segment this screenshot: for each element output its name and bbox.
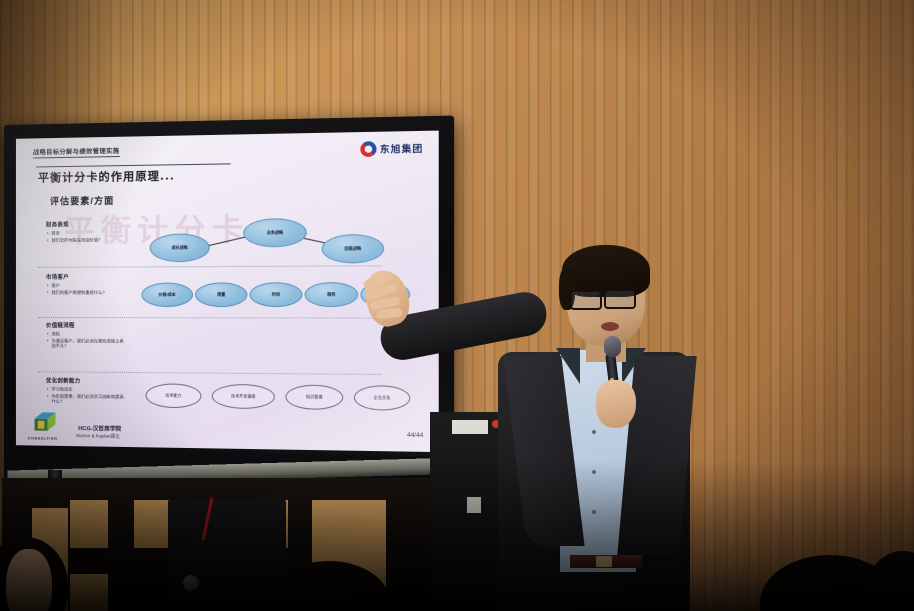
slide-header: 战略目标分解与绩效管理实施 bbox=[33, 146, 120, 159]
section-label: 评估要素/方面 bbox=[50, 194, 114, 208]
perspective-bullet: •我们怎样为股东创造价值? bbox=[47, 237, 125, 243]
customer-node: 质量 bbox=[195, 282, 247, 307]
presenter-mic-hand bbox=[596, 380, 636, 428]
footer-line-1: HCG-汉哲商学院 bbox=[78, 424, 121, 433]
perspective-bullet: •财务 bbox=[47, 230, 125, 236]
equipment-warning-label bbox=[452, 420, 488, 434]
bullet-text: 流程 bbox=[51, 331, 59, 337]
perspective-bullet: •我们的客户期望和重视什么? bbox=[47, 289, 125, 295]
company-logo-text: 东旭集团 bbox=[380, 141, 424, 155]
customer-node: 时间 bbox=[250, 282, 303, 307]
photo-scene: 平衡计分卡 战略目标分解与绩效管理实施 平衡计分卡的作用原理... 东旭集团 评… bbox=[0, 0, 914, 611]
innovation-node: 知识管理 bbox=[285, 385, 343, 410]
bullet-text: 我们的客户期望和重视什么? bbox=[51, 289, 104, 295]
perspective-bullet: •为实现愿景，我们必须学习创新和提高什么? bbox=[47, 393, 125, 405]
row-divider bbox=[38, 371, 382, 375]
perspective-bullet: •学习和成长 bbox=[47, 386, 125, 392]
perspective-financial: 财务表现 •财务 •我们怎样为股东创造价值? bbox=[40, 220, 125, 244]
presenter-mouth bbox=[601, 322, 619, 331]
hcg-cube-logo-icon bbox=[32, 409, 58, 433]
perspective-innovation: 优化创新能力 •学习和成长 •为实现愿景，我们必须学习创新和提高什么? bbox=[40, 376, 125, 406]
finger bbox=[376, 308, 403, 320]
bullet-text: 为满足客户，我们必须在哪些流程上表现不凡? bbox=[51, 338, 125, 350]
eyeglasses-bridge bbox=[597, 295, 606, 297]
perspective-bullet: •为满足客户，我们必须在哪些流程上表现不凡? bbox=[47, 338, 125, 350]
slide-title: 平衡计分卡的作用原理... bbox=[38, 167, 175, 185]
customer-node: 价格/成本 bbox=[141, 283, 193, 308]
eyeglasses-left-lens bbox=[570, 290, 602, 310]
perspective-title: 财务表现 bbox=[46, 220, 125, 229]
financial-node: 回报战略 bbox=[322, 234, 384, 264]
perspective-customer: 市场客户 •客户 •我们的客户期望和重视什么? bbox=[40, 273, 125, 297]
slide-page-number: 44/44 bbox=[407, 433, 423, 440]
foreground-shadow bbox=[0, 461, 914, 611]
title-rule bbox=[36, 163, 231, 167]
customer-node: 服务 bbox=[305, 282, 359, 307]
bullet-text: 财务 bbox=[51, 231, 59, 237]
bullet-text: 我们怎样为股东创造价值? bbox=[51, 237, 100, 243]
shirt-button bbox=[592, 430, 596, 434]
footer-consulting-text: CONSULTING bbox=[28, 436, 58, 440]
perspective-title: 优化创新能力 bbox=[46, 376, 125, 385]
perspective-bullet: •流程 bbox=[47, 331, 125, 337]
perspective-title: 市场客户 bbox=[46, 273, 125, 281]
perspective-title: 价值链流程 bbox=[46, 321, 125, 329]
bullet-text: 为实现愿景，我们必须学习创新和提高什么? bbox=[51, 393, 125, 405]
bullet-text: 客户 bbox=[51, 283, 59, 289]
bullet-text: 学习和成长 bbox=[51, 386, 72, 392]
innovation-node: 技术开发速度 bbox=[212, 384, 275, 409]
perspective-bullet: •客户 bbox=[47, 283, 125, 289]
microphone-head bbox=[604, 336, 621, 357]
perspective-process: 价值链流程 •流程 •为满足客户，我们必须在哪些流程上表现不凡? bbox=[40, 321, 125, 351]
row-divider bbox=[38, 317, 382, 319]
eyeglasses-right-lens bbox=[604, 289, 636, 309]
footer-line-2: Norton & Kaplan建立 bbox=[76, 433, 120, 440]
swirl-logo-icon bbox=[360, 141, 376, 157]
company-logo: 东旭集团 bbox=[360, 140, 423, 157]
innovation-node: 技术能力 bbox=[146, 383, 202, 408]
innovation-node: 企业文化 bbox=[354, 385, 410, 411]
